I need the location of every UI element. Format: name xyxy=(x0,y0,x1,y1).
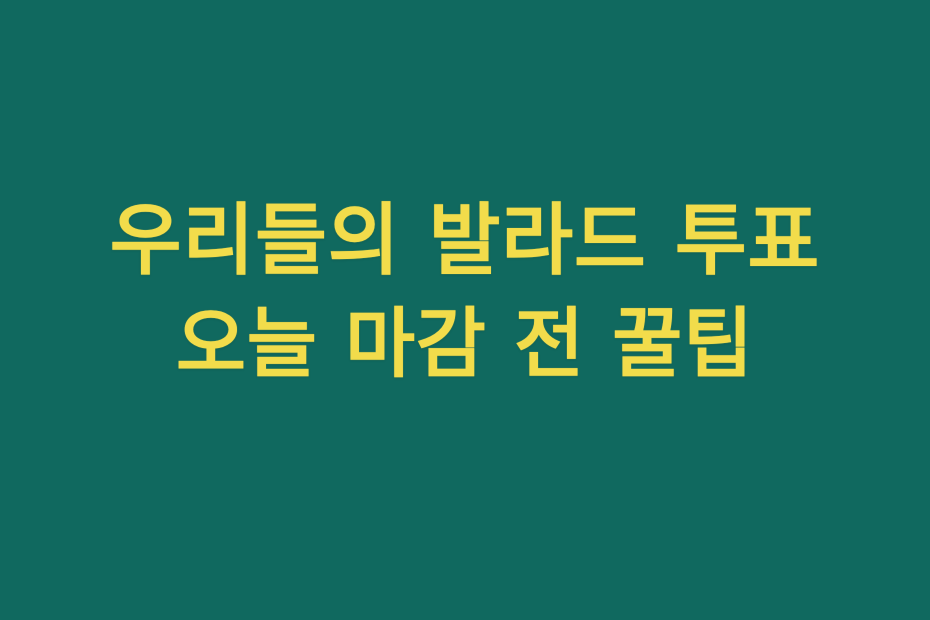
headline-block: 우리들의 발라드 투표 오늘 마감 전 꿀팁 xyxy=(0,202,930,382)
headline-line-1: 우리들의 발라드 투표 xyxy=(0,202,930,280)
poster-canvas: 우리들의 발라드 투표 오늘 마감 전 꿀팁 xyxy=(0,0,930,620)
headline-line-2: 오늘 마감 전 꿀팁 xyxy=(0,306,930,382)
